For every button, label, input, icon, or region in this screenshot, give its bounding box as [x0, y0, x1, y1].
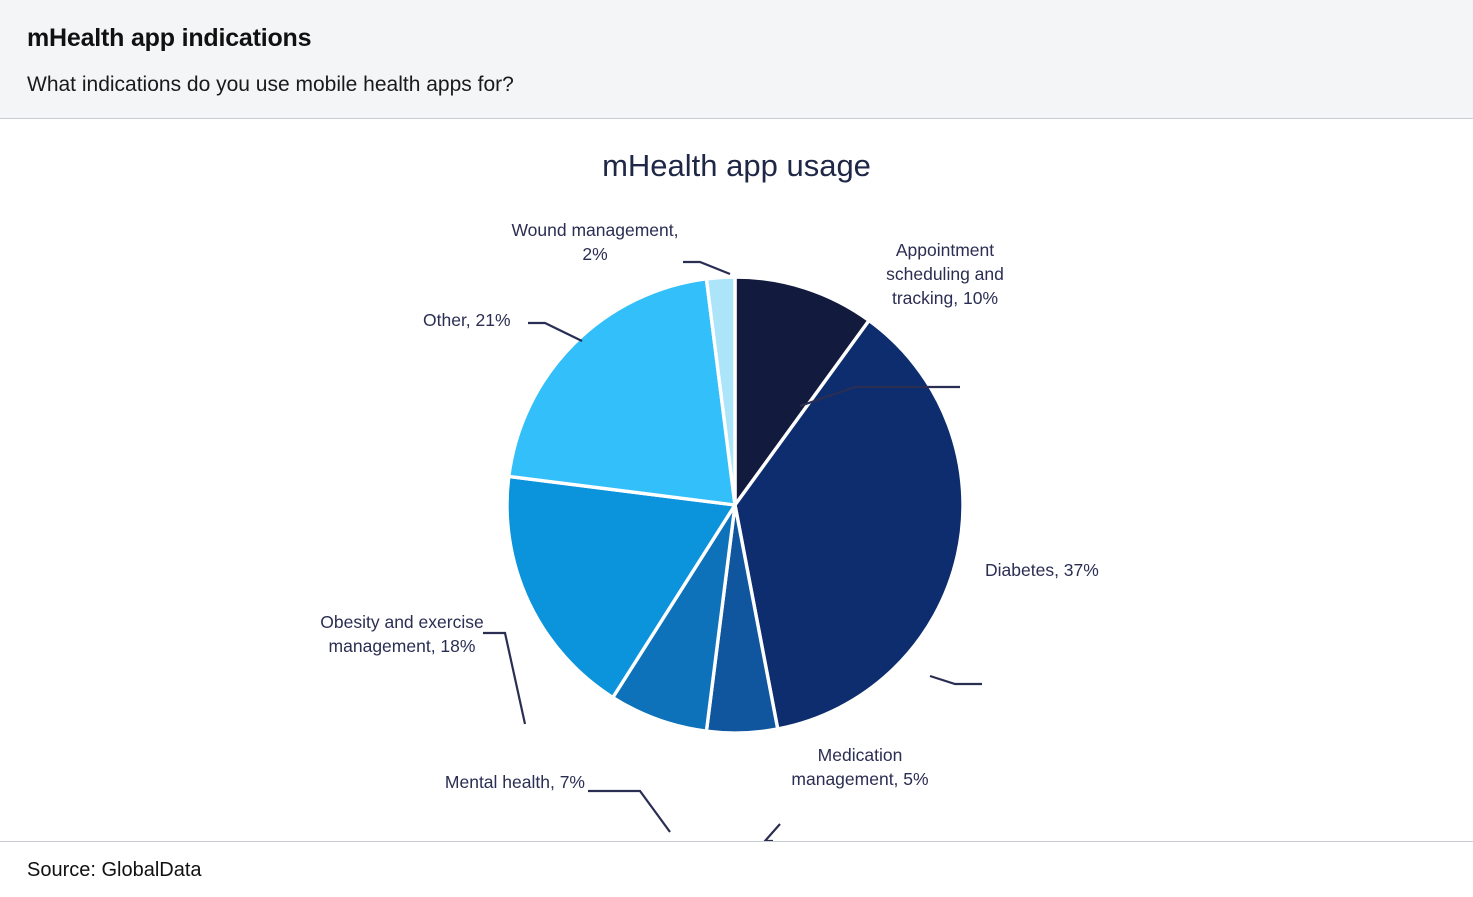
- pie-label-appointment: Appointment scheduling and tracking, 10%: [875, 239, 1015, 310]
- footer-band: Source: GlobalData: [0, 841, 1473, 897]
- leader-line-mental: [588, 791, 670, 832]
- chart-container: mHealth app usage Appointment scheduling…: [0, 119, 1473, 841]
- pie-label-wound: Wound management, 2%: [505, 219, 685, 267]
- source-note: Source: GlobalData: [27, 859, 202, 882]
- pie-label-other: Other, 21%: [423, 309, 533, 333]
- pie-slice[interactable]: Other, 21%: [509, 279, 735, 505]
- leader-line-medication: [765, 824, 780, 841]
- page-subtitle: What indications do you use mobile healt…: [27, 73, 514, 97]
- page-title: mHealth app indications: [27, 24, 311, 53]
- leader-line-wound: [683, 262, 730, 274]
- pie-label-medication: Medication management, 5%: [775, 744, 945, 792]
- pie-label-obesity: Obesity and exercise management, 18%: [307, 611, 497, 659]
- pie-label-mental-health: Mental health, 7%: [415, 771, 585, 795]
- leader-line-diabetes: [930, 676, 982, 684]
- leader-line-other: [528, 323, 582, 341]
- chart-page: mHealth app indications What indications…: [0, 0, 1473, 897]
- pie-chart: Appointment scheduling and tracking, 10%…: [0, 119, 1473, 841]
- pie-slices-group: Appointment scheduling and tracking, 10%…: [507, 277, 963, 733]
- header-band: mHealth app indications What indications…: [0, 0, 1473, 119]
- pie-label-diabetes: Diabetes, 37%: [985, 559, 1145, 583]
